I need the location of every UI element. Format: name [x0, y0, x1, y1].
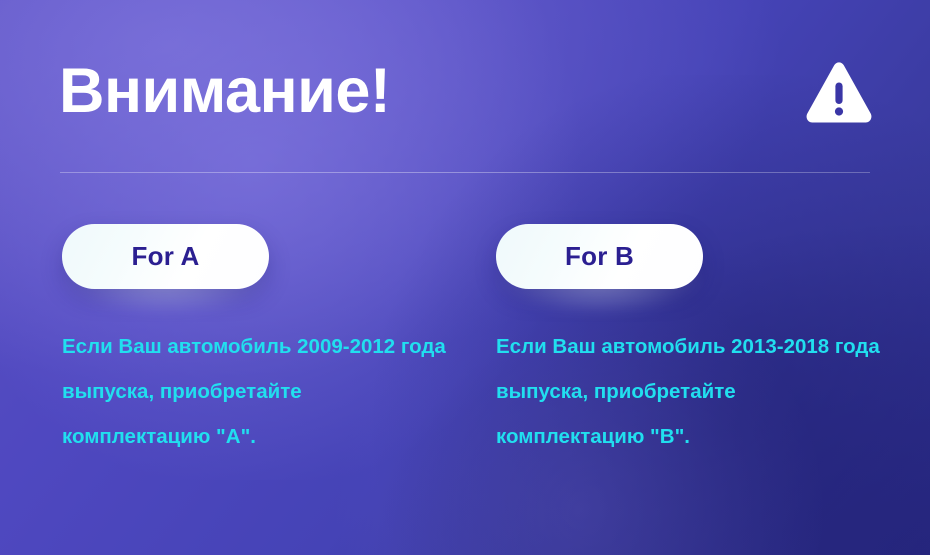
for-a-button-label: For A — [132, 241, 200, 272]
for-b-button[interactable]: For B — [496, 224, 703, 289]
warning-triangle-icon — [804, 60, 874, 128]
option-column-a: For A Если Ваш автомобиль 2009-2012 года… — [62, 224, 482, 459]
option-b-description: Если Ваш автомобиль 2013-2018 года выпус… — [496, 289, 886, 459]
option-column-b: For B Если Ваш автомобиль 2013-2018 года… — [496, 224, 916, 459]
page-title: Внимание! — [59, 58, 390, 124]
for-b-button-wrap: For B — [496, 224, 703, 289]
for-a-button[interactable]: For A — [62, 224, 269, 289]
option-a-description: Если Ваш автомобиль 2009-2012 года выпус… — [62, 289, 452, 459]
for-a-button-wrap: For A — [62, 224, 269, 289]
for-b-button-label: For B — [565, 241, 634, 272]
header-divider — [60, 172, 870, 173]
warning-banner: Внимание! For A Если Ваш автомобиль 2009… — [0, 0, 930, 555]
